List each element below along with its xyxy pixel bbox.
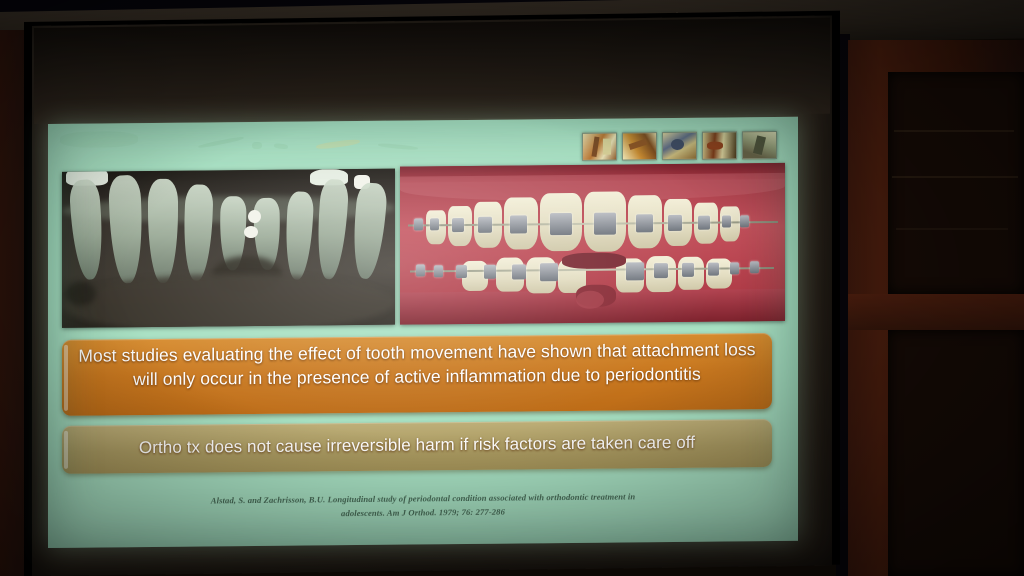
- banner-highlight-edge: [64, 345, 68, 411]
- slide-artifact: [316, 138, 360, 150]
- thumbnail-3[interactable]: [662, 132, 697, 160]
- thumbnail-2[interactable]: [622, 132, 657, 160]
- slide-artifact: [252, 142, 262, 149]
- statement-banner-primary: Most studies evaluating the effect of to…: [62, 333, 772, 416]
- lecture-room-scene: Most studies evaluating the effect of to…: [0, 0, 1024, 576]
- thumbnail-4[interactable]: [702, 131, 737, 159]
- banner-highlight-edge: [64, 431, 68, 469]
- citation: Alstad, S. and Zachrisson, B.U. Longitud…: [108, 489, 738, 522]
- thumbnail-strip: [582, 131, 777, 161]
- screen-upper-shade: [34, 18, 830, 124]
- intraoral-photo-braces: [400, 163, 785, 325]
- periapical-radiograph: [62, 169, 395, 328]
- slide-artifact: [198, 136, 244, 149]
- statement-banner-primary-text: Most studies evaluating the effect of to…: [62, 333, 772, 392]
- thumbnail-5[interactable]: [742, 131, 777, 159]
- statement-banner-secondary: Ortho tx does not cause irreversible har…: [62, 419, 772, 474]
- statement-banner-secondary-text: Ortho tx does not cause irreversible har…: [62, 419, 772, 460]
- cabinet-panel-upper: [888, 72, 1024, 294]
- cabinet-gleam: [892, 176, 1018, 178]
- thumbnail-1[interactable]: [582, 133, 617, 161]
- cabinet-panel-lower: [888, 330, 1024, 576]
- projected-slide: Most studies evaluating the effect of to…: [48, 117, 798, 548]
- slide-artifact: [274, 143, 289, 150]
- slide-artifact: [378, 143, 418, 151]
- cabinet-rail: [848, 294, 1024, 330]
- cabinet-gleam: [894, 130, 1014, 132]
- cabinet-gleam: [896, 228, 1008, 230]
- slide-artifact: [60, 131, 138, 148]
